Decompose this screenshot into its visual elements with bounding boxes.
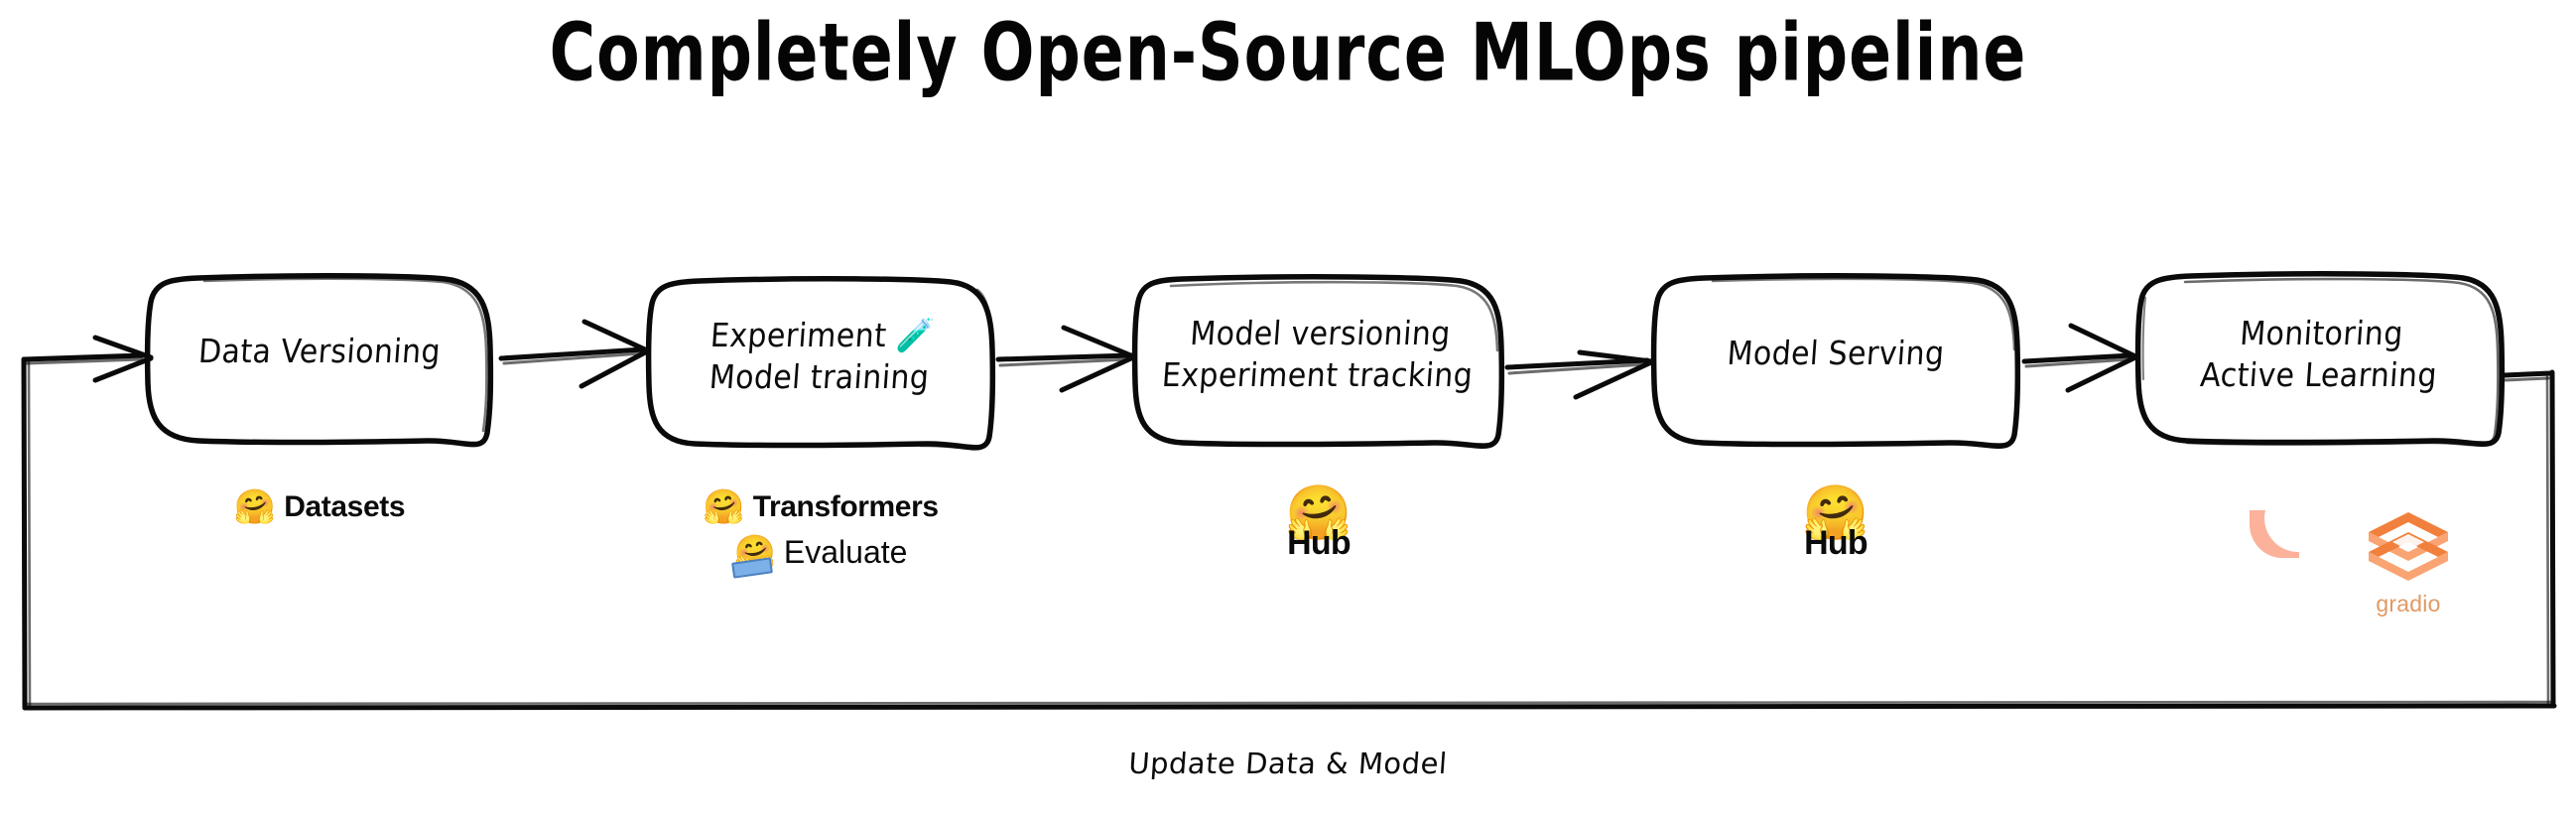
tool-item-datasets[interactable]: 🤗 Datasets — [234, 490, 405, 524]
node-box-data-versioning[interactable] — [148, 276, 491, 445]
tool-item-transformers[interactable]: 🤗 Transformers — [703, 490, 938, 524]
tool-label: Transformers — [753, 490, 939, 524]
edge-arrow-4 — [2024, 326, 2135, 390]
node-box-monitoring-active-learning[interactable] — [2138, 274, 2503, 446]
tool-label: Hub — [1756, 524, 1915, 563]
argilla-logo[interactable] — [2208, 508, 2299, 560]
edge-arrow-1 — [501, 322, 647, 386]
node-box-model-versioning-experiment-tracking[interactable] — [1135, 277, 1502, 446]
node-box-experiment-model-training[interactable] — [649, 279, 993, 448]
tools-experiment-model-training: 🤗 Transformers 🤗 Evaluate — [649, 490, 992, 571]
tool-label: Hub — [1239, 524, 1398, 563]
node-box-model-serving[interactable] — [1654, 276, 2018, 446]
tool-item-hub-serving[interactable]: 🤗 Hub — [1756, 488, 1915, 563]
argilla-arc-shape — [2246, 508, 2301, 560]
tools-monitoring-active-learning: gradio — [2208, 508, 2456, 617]
gradio-logo[interactable]: gradio — [2361, 508, 2456, 617]
tool-label: Datasets — [284, 490, 405, 524]
edge-arrow-2 — [998, 328, 1133, 390]
hugging-face-ruler-emoji: 🤗 — [734, 536, 776, 570]
edge-arrow-3 — [1507, 352, 1651, 397]
loop-caption: Update Data & Model — [0, 747, 2576, 780]
tool-label: Evaluate — [784, 534, 908, 571]
hugging-face-emoji: 🤗 — [234, 490, 276, 524]
gradio-mark-icon — [2363, 508, 2454, 584]
tool-item-hub-versioning[interactable]: 🤗 Hub — [1239, 488, 1398, 563]
hugging-face-emoji: 🤗 — [703, 490, 744, 524]
diagram-canvas: Completely Open-Source MLOps pipeline — [0, 0, 2576, 822]
gradio-wordmark: gradio — [2361, 591, 2456, 617]
tool-item-evaluate[interactable]: 🤗 Evaluate — [734, 534, 908, 571]
tools-data-versioning: 🤗 Datasets — [148, 490, 491, 524]
flowchart-svg — [0, 0, 2576, 822]
